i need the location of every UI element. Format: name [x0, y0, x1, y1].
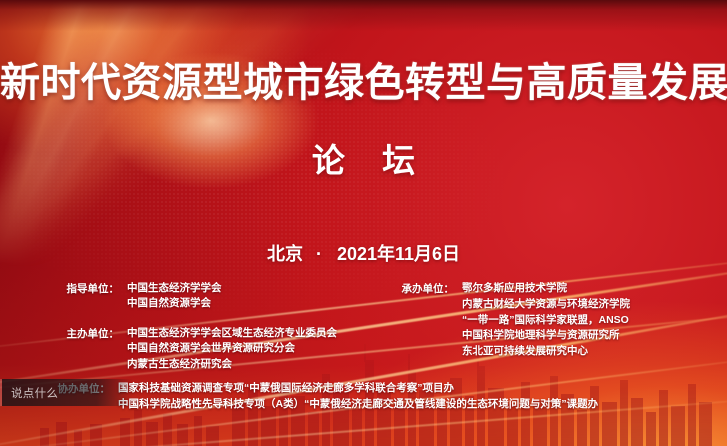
organization-name: 中国生态经济学学会 — [127, 281, 222, 296]
credit-label: 指导单位： — [57, 281, 119, 296]
credit-block-organizers: 承办单位： 鄂尔多斯应用技术学院 内蒙古财经大学资源与环境经济学院 “一带一路”… — [392, 281, 630, 360]
poster-image: 新时代资源型城市绿色转型与高质量发展 论 坛 北京·2021年11月6日 指导单… — [0, 0, 727, 446]
separator-dot: · — [316, 244, 322, 264]
credit-organizations: 鄂尔多斯应用技术学院 内蒙古财经大学资源与环境经济学院 “一带一路”国际科学家联… — [462, 281, 630, 360]
organization-name: 国家科技基础资源调查专项“中蒙俄国际经济走廊多学科联合考察”项目办 — [118, 381, 598, 397]
credit-label: 承办单位： — [392, 281, 454, 296]
credit-block-hosts: 主办单位： 中国生态经济学学会区域生态经济专业委员会 中国自然资源学会世界资源研… — [41, 326, 337, 372]
credit-block-advisors: 指导单位： 中国生态经济学学会 中国自然资源学会 — [57, 281, 222, 312]
credit-organizations: 中国生态经济学学会 中国自然资源学会 — [127, 281, 222, 312]
organization-name: 内蒙古生态经济研究会 — [127, 357, 337, 372]
organization-name: 中国自然资源学会世界资源研究分会 — [127, 341, 337, 356]
poster-main-title: 新时代资源型城市绿色转型与高质量发展 — [0, 63, 727, 103]
organization-name: 中国科学院战略性先导科技专项（A类）“中蒙俄经济走廊交通及管线建设的生态环境问题… — [118, 397, 598, 413]
organization-name: 中国生态经济学学会区域生态经济专业委员会 — [127, 326, 337, 341]
poster-sub-title: 论 坛 — [0, 144, 727, 177]
credit-organizations: 国家科技基础资源调查专项“中蒙俄国际经济走廊多学科联合考察”项目办 中国科学院战… — [118, 381, 598, 413]
credit-label: 主办单位： — [41, 326, 119, 341]
organization-name: 东北亚可持续发展研究中心 — [462, 344, 630, 360]
credit-organizations: 中国生态经济学学会区域生态经济专业委员会 中国自然资源学会世界资源研究分会 内蒙… — [127, 326, 337, 372]
organization-name: 中国自然资源学会 — [127, 296, 222, 311]
poster-date-line: 北京·2021年11月6日 — [0, 245, 727, 263]
comment-input-placeholder: 说点什么 — [11, 385, 58, 401]
event-location: 北京 — [267, 244, 303, 264]
organization-name: 鄂尔多斯应用技术学院 — [462, 281, 630, 297]
event-date: 2021年11月6日 — [337, 244, 460, 264]
comment-input-overlay[interactable]: 说点什么 — [0, 379, 133, 406]
organization-name: 内蒙古财经大学资源与环境经济学院 — [462, 297, 630, 313]
organization-name: 中国科学院地理科学与资源研究所 — [462, 328, 630, 344]
organization-name: “一带一路”国际科学家联盟，ANSO — [462, 313, 630, 329]
